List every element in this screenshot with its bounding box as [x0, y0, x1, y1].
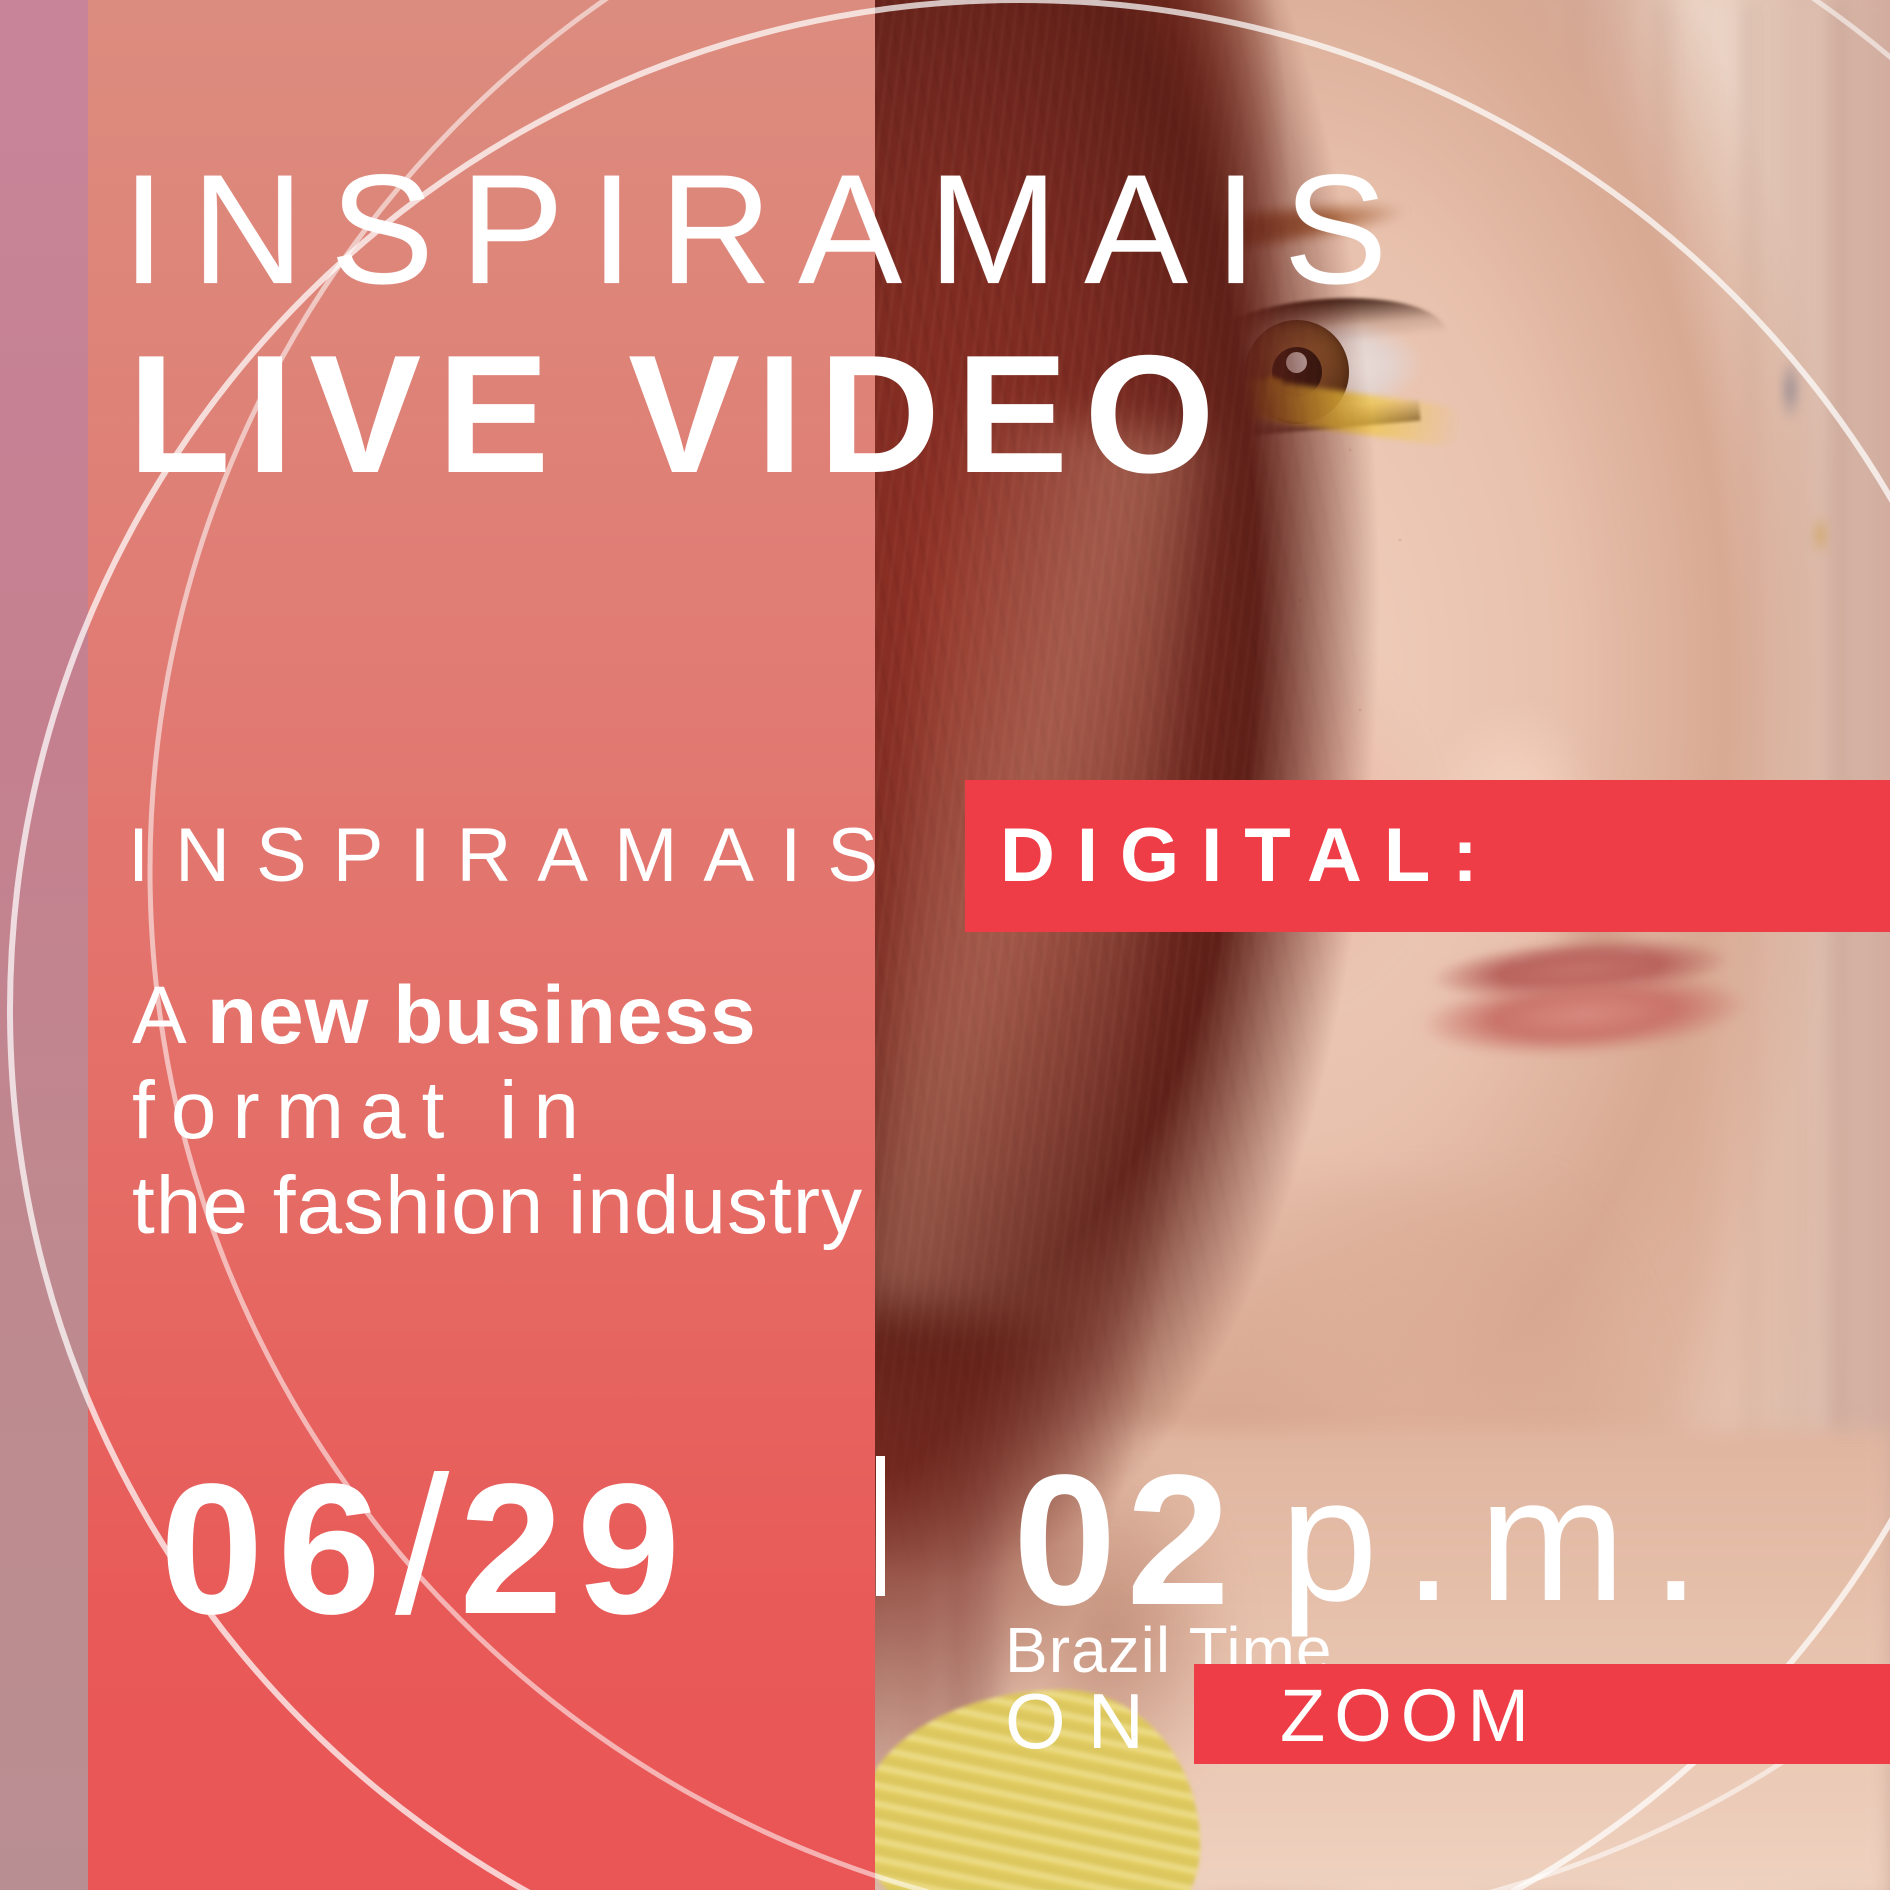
description-line-2: format in	[132, 1063, 952, 1158]
description-line-1: A new business	[132, 968, 952, 1063]
platform-prefix: ON	[1005, 1682, 1166, 1760]
event-day: 29	[459, 1446, 694, 1653]
description-block: A new business format in the fashion ind…	[132, 968, 952, 1253]
event-date: 06/29	[160, 1448, 694, 1644]
description-line-1-bold: new business	[207, 970, 757, 1061]
brand-subtitle: LIVE VIDEO	[128, 330, 1231, 498]
description-line-3: the fashion industry	[132, 1158, 952, 1253]
poster-content: INSPIRAMAIS LIVE VIDEO INSPIRAMAIS DIGIT…	[0, 0, 1890, 1890]
brand-title: INSPIRAMAIS	[122, 152, 1414, 308]
event-meridiem: p.m.	[1280, 1452, 1726, 1628]
tagline-highlight: DIGITAL:	[1000, 818, 1500, 894]
description-line-1-plain: A	[132, 970, 207, 1061]
event-month: 06	[160, 1446, 395, 1653]
promo-poster: INSPIRAMAIS LIVE VIDEO INSPIRAMAIS DIGIT…	[0, 0, 1890, 1890]
tagline-prefix: INSPIRAMAIS	[128, 818, 904, 894]
date-separator: /	[395, 1436, 459, 1655]
date-time-divider	[876, 1456, 885, 1596]
platform-name: ZOOM	[1280, 1679, 1538, 1753]
event-hour: 02	[1013, 1448, 1240, 1634]
